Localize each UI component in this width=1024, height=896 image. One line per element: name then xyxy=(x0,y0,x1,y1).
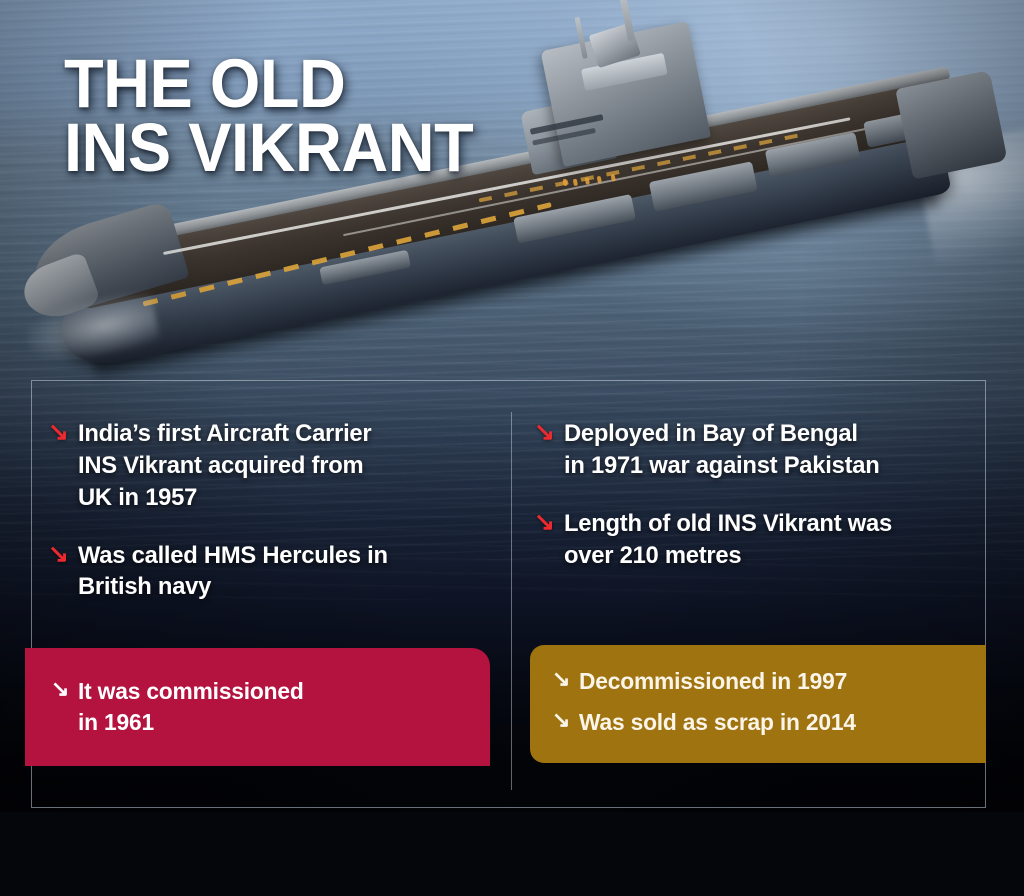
list-item: ↘ Length of old INS Vikrant was over 210… xyxy=(534,508,984,572)
callout-decommissioned: ↘ Decommissioned in 1997 ↘ Was sold as s… xyxy=(530,645,986,763)
page-title: THE OLD INS VIKRANT xyxy=(64,52,473,180)
list-item-text: Deployed in Bay of Bengal in 1971 war ag… xyxy=(564,418,880,482)
list-item-text: Was called HMS Hercules in British navy xyxy=(78,540,388,604)
arrow-down-right-icon: ↘ xyxy=(48,540,78,570)
bottom-band xyxy=(0,812,1024,896)
list-item-text: Length of old INS Vikrant was over 210 m… xyxy=(564,508,892,572)
callout-text: Was sold as scrap in 2014 xyxy=(579,707,856,738)
infographic-root: THE OLD INS VIKRANT ↘ India’s first Airc… xyxy=(0,0,1024,896)
list-item: ↘ Was called HMS Hercules in British nav… xyxy=(48,540,503,604)
callout-commissioned: ↘ It was commissioned in 1961 xyxy=(25,648,490,766)
list-item: ↘ Deployed in Bay of Bengal in 1971 war … xyxy=(534,418,984,482)
callout-text: Decommissioned in 1997 xyxy=(579,666,847,697)
callout-row: ↘ Was sold as scrap in 2014 xyxy=(552,707,968,738)
callout-row: ↘ It was commissioned in 1961 xyxy=(51,676,472,738)
callout-row: ↘ Decommissioned in 1997 xyxy=(552,666,968,697)
list-item: ↘ India’s first Aircraft Carrier INS Vik… xyxy=(48,418,503,514)
list-item-text: India’s first Aircraft Carrier INS Vikra… xyxy=(78,418,371,514)
arrow-down-right-icon: ↘ xyxy=(534,508,564,538)
bullet-column-left: ↘ India’s first Aircraft Carrier INS Vik… xyxy=(48,418,503,629)
column-divider xyxy=(511,412,512,790)
callout-text: It was commissioned in 1961 xyxy=(78,676,304,738)
arrow-down-right-icon: ↘ xyxy=(552,666,579,692)
arrow-down-right-icon: ↘ xyxy=(552,707,579,733)
arrow-down-right-icon: ↘ xyxy=(534,418,564,448)
arrow-down-right-icon: ↘ xyxy=(51,676,78,702)
bullet-column-right: ↘ Deployed in Bay of Bengal in 1971 war … xyxy=(534,418,984,597)
arrow-down-right-icon: ↘ xyxy=(48,418,78,448)
